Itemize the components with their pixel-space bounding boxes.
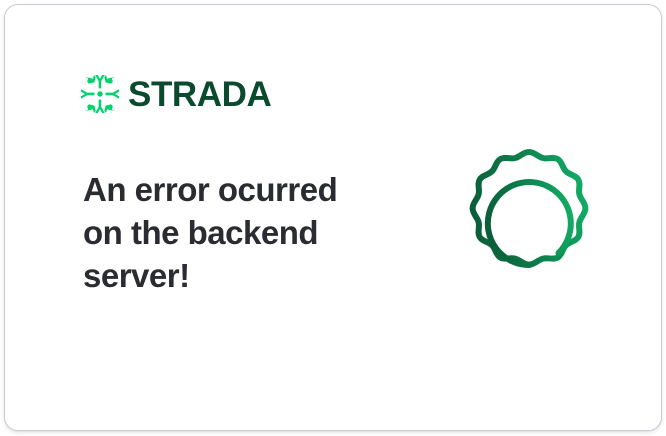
strada-asterisk-icon — [81, 75, 119, 113]
brand-lockup: STRADA — [81, 75, 271, 113]
gear-cog-icon — [448, 144, 610, 308]
error-card: STRADA An error ocurred on the backend s… — [4, 4, 662, 431]
error-page: STRADA An error ocurred on the backend s… — [0, 0, 666, 436]
gear-illustration — [448, 144, 610, 308]
error-headline: An error ocurred on the backend server! — [83, 168, 383, 297]
brand-wordmark: STRADA — [128, 77, 271, 112]
